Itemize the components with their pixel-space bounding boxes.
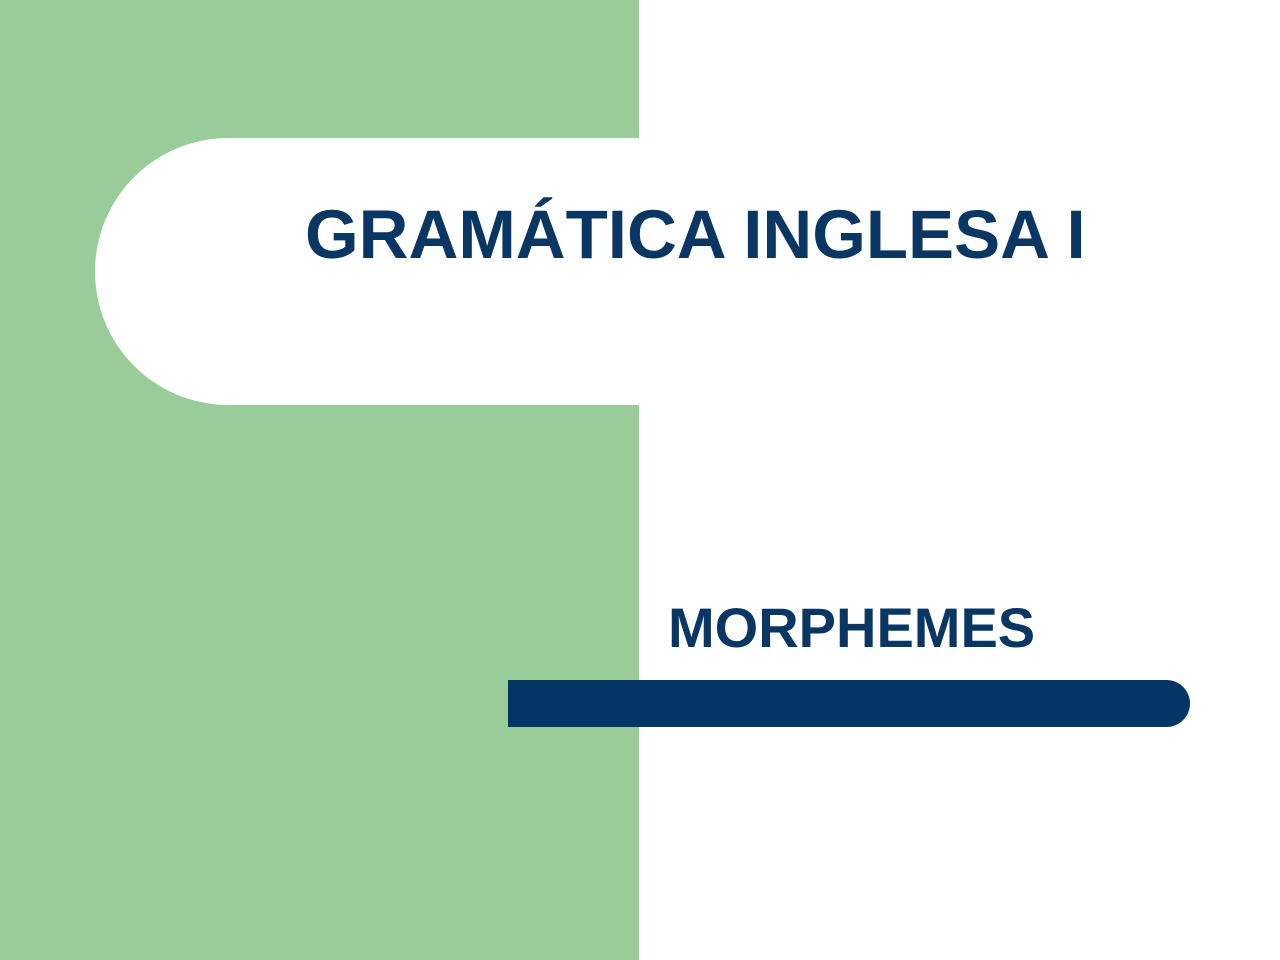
slide-title: GRAMÁTICA INGLESA I [305,190,1205,280]
subtitle-accent-bar [508,680,1190,727]
slide-subtitle: MORPHEMES [668,592,1228,664]
presentation-slide: GRAMÁTICA INGLESA I MORPHEMES [0,0,1280,960]
